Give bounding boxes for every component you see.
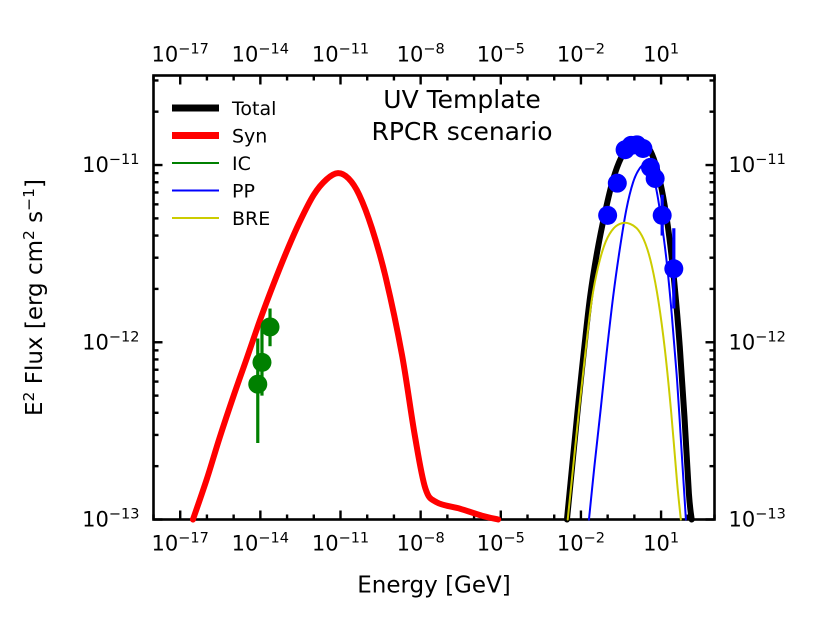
y-axis-title-text: E2 Flux [erg cm2 s−1] — [20, 179, 48, 416]
legend-label-syn: Syn — [232, 126, 267, 148]
x-axis-title: Energy [GeV] — [357, 573, 511, 599]
data-point-marker — [261, 317, 280, 336]
data-point-marker — [653, 206, 672, 225]
legend-label-pp: PP — [232, 181, 255, 203]
data-point-marker — [252, 353, 271, 372]
legend-label-ic: IC — [232, 153, 251, 175]
data-point-marker — [633, 139, 652, 158]
data-point-marker — [646, 169, 665, 188]
plot-title-line-0: UV Template — [383, 85, 540, 114]
figure-panel: 10−1710−1410−1110−810−510−2101 10−1710−1… — [0, 0, 830, 623]
data-point-marker — [248, 375, 267, 394]
chart-canvas: 10−1710−1410−1110−810−510−2101 10−1710−1… — [0, 0, 830, 623]
y-axis-title: E2 Flux [erg cm2 s−1] — [20, 179, 48, 416]
data-point-marker — [664, 259, 683, 278]
data-point-marker — [598, 206, 617, 225]
plot-title-line-1: RPCR scenario — [371, 117, 552, 146]
legend-label-total: Total — [231, 98, 276, 120]
data-point-marker — [608, 174, 627, 193]
legend-label-bre: BRE — [232, 208, 270, 230]
